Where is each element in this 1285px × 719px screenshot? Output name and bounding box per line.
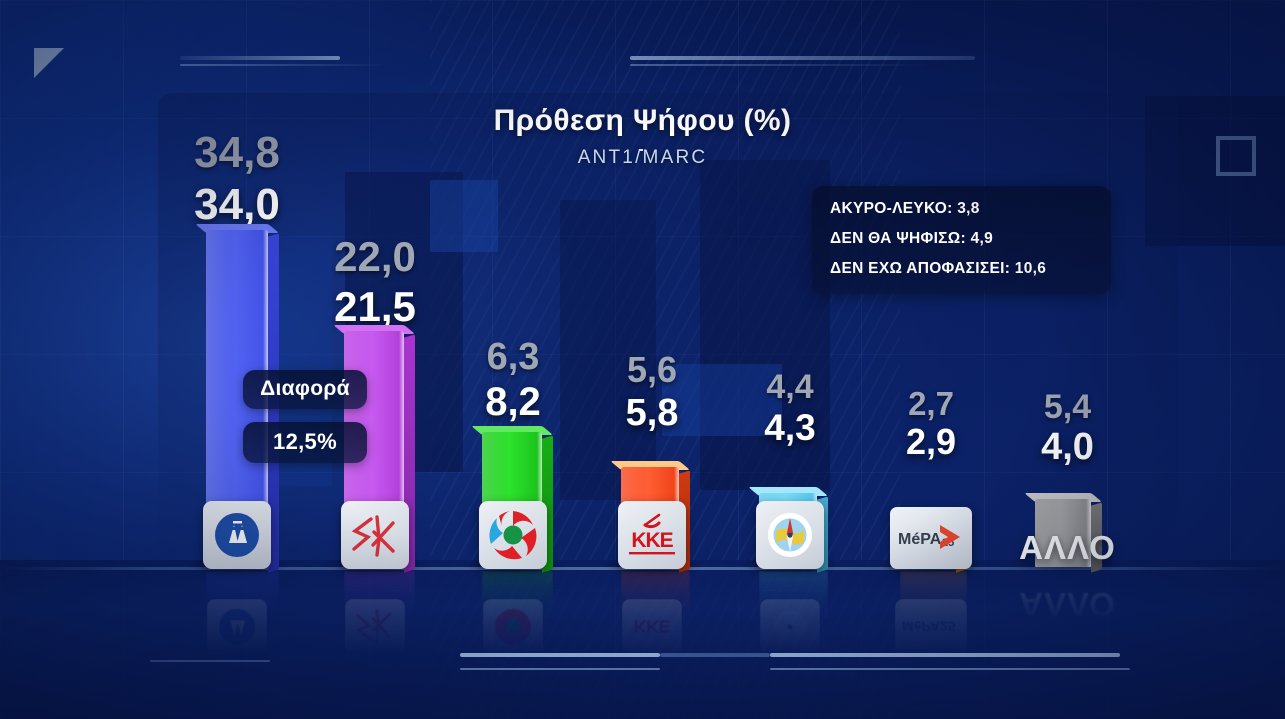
bar-value-previous-syriza: 22,0 (334, 233, 416, 281)
bar-value-previous-mera25: 2,7 (908, 385, 954, 423)
mera25-logo-reflection: MéPA25 (895, 599, 967, 655)
svg-text:KKE: KKE (631, 529, 673, 552)
bar-value-previous-kke: 5,6 (627, 349, 677, 391)
bar-reflection-pasok (482, 571, 553, 629)
svg-text:KKE: KKE (634, 616, 671, 636)
svg-text:MéPA25: MéPA25 (902, 619, 956, 635)
bar-reflection-mera25 (900, 571, 967, 629)
bar-column-allo: 5,4 4,0 ΑΛΛΟ ΑΛΛΟ (1005, 0, 1130, 719)
bar-value-current-pasok: 8,2 (485, 380, 541, 425)
broadcast-poll-graphic: Πρόθεση Ψήφου (%) ΑΝΤ1/MARC ΑΚΥΡΟ-ΛΕΥΚΟ:… (0, 0, 1285, 719)
difference-value: 12,5% (243, 422, 367, 463)
category-label-allo-reflection: ΑΛΛΟ (1019, 585, 1116, 623)
kke-logo: KKE (618, 501, 686, 569)
bar-value-current-allo: 4,0 (1041, 426, 1094, 469)
compass-icon (756, 501, 824, 569)
pasok-logo-icon (479, 501, 547, 569)
bar-value-previous-elliniki-lysi: 4,4 (766, 368, 813, 407)
mera25-logo: MéPA 25 (890, 507, 972, 569)
bar-column-syriza: 22,0 21,5 (320, 0, 430, 719)
bar-reflection-nd (206, 571, 279, 629)
bar-chart: 34,8 34,0 (0, 0, 1285, 719)
bar-value-previous-allo: 5,4 (1044, 388, 1091, 427)
kke-logo-reflection: KKE (622, 599, 682, 655)
nd-logo-reflection (207, 599, 267, 655)
bar-reflection-kke (621, 571, 690, 629)
bar-column-pasok: 6,3 8,2 (458, 0, 568, 719)
syriza-logo-icon (341, 501, 409, 569)
syriza-logo (341, 501, 409, 569)
bar-value-current-kke: 5,8 (626, 392, 679, 435)
bar-column-kke: 5,6 5,8 KKE (597, 0, 707, 719)
category-label-allo: ΑΛΛΟ (1019, 529, 1116, 567)
svg-text:MéPA: MéPA (898, 531, 942, 548)
bar-value-previous-pasok: 6,3 (487, 336, 540, 379)
pasok-logo-reflection (483, 599, 543, 655)
bar-value-current-mera25: 2,9 (906, 421, 956, 463)
bar-reflection-elliniki-lysi (759, 571, 828, 629)
bar-reflection-syriza (344, 571, 415, 629)
nd-logo (203, 501, 271, 569)
difference-badge: Διαφορά 12,5% (243, 370, 367, 463)
bar-column-elliniki-lysi: 4,4 4,3 (735, 0, 845, 719)
bar-value-current-nd: 34,0 (194, 180, 280, 230)
bar-column-nd: 34,8 34,0 (182, 0, 292, 719)
elliniki-lysi-logo (756, 501, 824, 569)
elliniki-lysi-logo-reflection (760, 599, 820, 655)
bar-value-previous-nd: 34,8 (194, 128, 280, 178)
kke-logo-icon: KKE (618, 501, 686, 569)
mera25-logo-icon: MéPA 25 (890, 507, 972, 569)
nd-logo-icon (203, 501, 271, 569)
pasok-logo (479, 501, 547, 569)
syriza-logo-reflection (345, 599, 405, 655)
bar-value-current-syriza: 21,5 (334, 283, 416, 331)
difference-label: Διαφορά (243, 370, 367, 409)
bar-value-current-elliniki-lysi: 4,3 (764, 407, 815, 449)
bar-column-mera25: 2,7 2,9 MéPA 25 (872, 0, 990, 719)
